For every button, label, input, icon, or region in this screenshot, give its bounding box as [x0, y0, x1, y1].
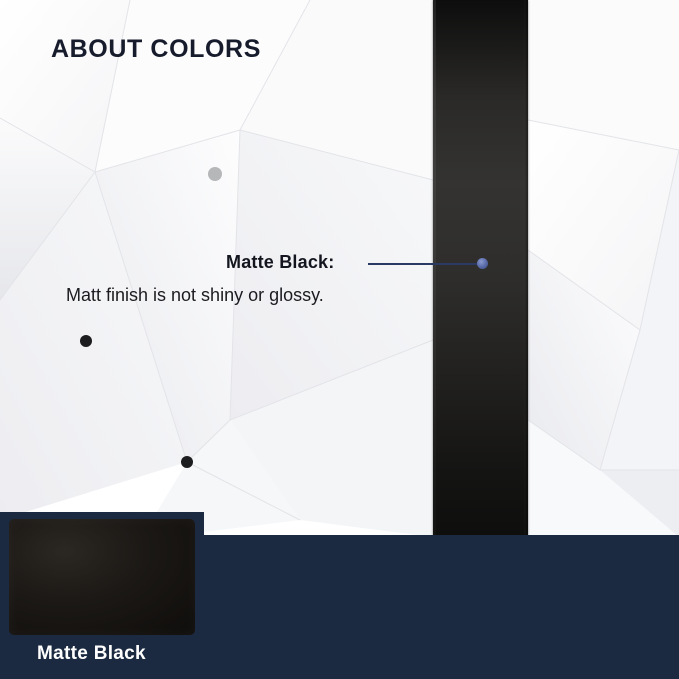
callout-description: Matt finish is not shiny or glossy. — [66, 285, 324, 306]
callout-title: Matte Black: — [226, 252, 334, 273]
callout-leader-dot-icon — [477, 258, 488, 269]
page-title: ABOUT COLORS — [51, 35, 261, 64]
swatch-item-matte-black-featured[interactable]: Matte Black — [0, 512, 204, 679]
callout-leader-line — [368, 263, 484, 265]
swatch-label-matte-black: Matte Black — [37, 643, 146, 665]
vertex-dot-dark-upper — [80, 335, 92, 347]
vertex-dot-gray — [208, 167, 222, 181]
vertex-dot-dark-lower — [181, 456, 193, 468]
about-colors-infographic: ABOUT COLORS Matte Black: Matt finish is… — [0, 0, 679, 679]
swatch-chip-matte-black[interactable] — [9, 519, 195, 635]
